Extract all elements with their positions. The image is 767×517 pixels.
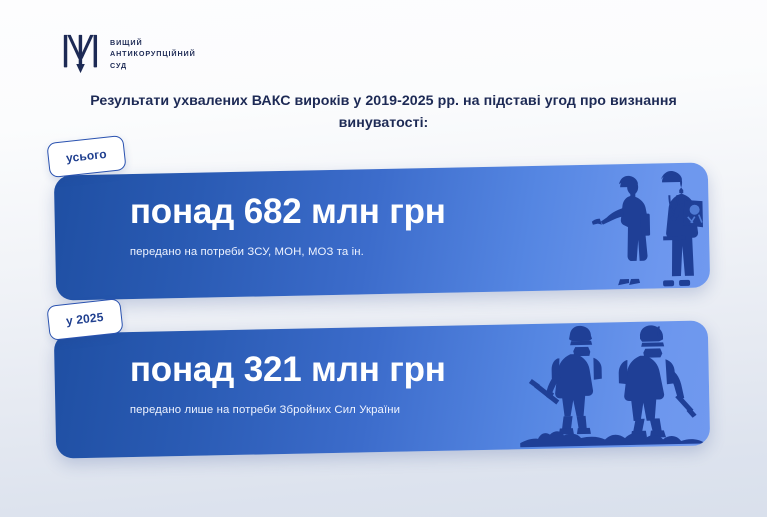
org-name-label: ВИЩИЙ АНТИКОРУПЦІЙНИЙ СУД bbox=[110, 37, 196, 70]
card-body: понад 321 млн грн передано лише на потре… bbox=[54, 320, 710, 458]
card-subtitle: передано на потреби ЗСУ, МОН, МОЗ та ін. bbox=[130, 245, 446, 257]
page-title: Результати ухвалених ВАКС вироків у 2019… bbox=[0, 90, 767, 134]
card-subtitle: передано лише на потреби Збройних Сил Ук… bbox=[130, 403, 446, 415]
badge-total[interactable]: усього bbox=[46, 135, 126, 178]
teacher-and-doctor-silhouettes-icon bbox=[582, 170, 704, 290]
card-amount: понад 321 млн грн bbox=[130, 351, 446, 390]
card-amount: понад 682 млн грн bbox=[130, 193, 446, 232]
card-text-block: понад 682 млн грн передано на потреби ЗС… bbox=[130, 193, 446, 258]
card-text-block: понад 321 млн грн передано лише на потре… bbox=[130, 351, 446, 416]
vaks-trident-logo-icon bbox=[62, 33, 100, 75]
brand-header: ВИЩИЙ АНТИКОРУПЦІЙНИЙ СУД bbox=[62, 33, 196, 75]
card-body: понад 682 млн грн передано на потреби ЗС… bbox=[54, 162, 710, 300]
result-card-total: понад 682 млн грн передано на потреби ЗС… bbox=[54, 162, 710, 300]
result-card-2025: понад 321 млн грн передано лише на потре… bbox=[54, 320, 710, 458]
two-soldiers-silhouettes-icon bbox=[518, 321, 710, 449]
